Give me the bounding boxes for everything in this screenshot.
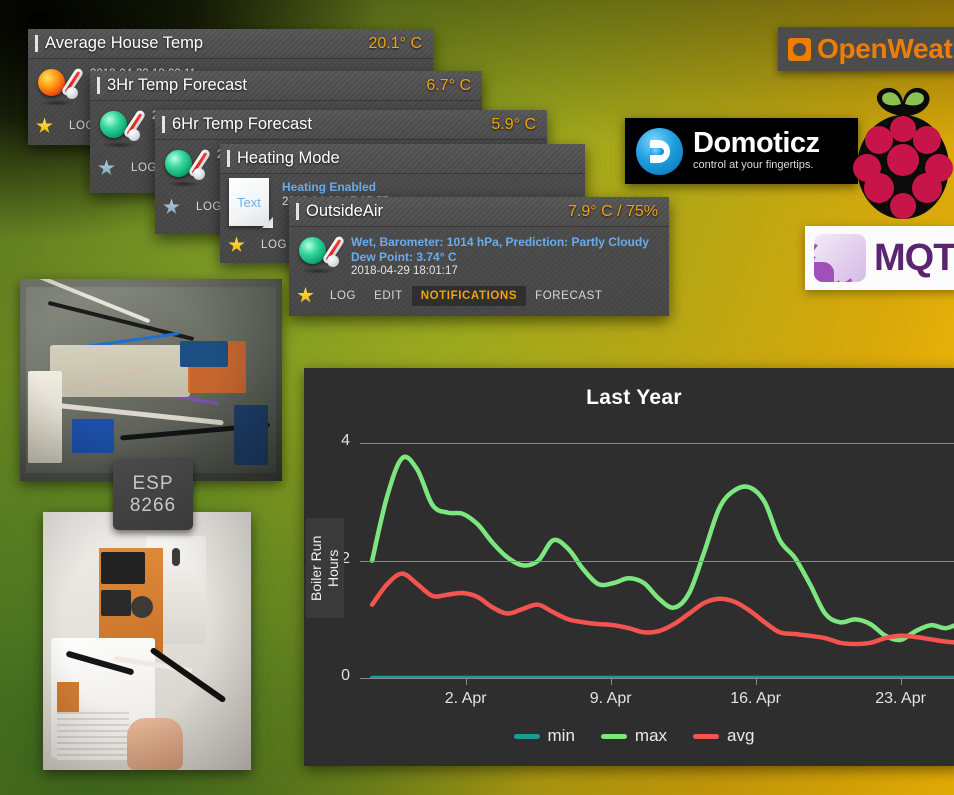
card-title: Average House Temp xyxy=(35,34,203,53)
favorite-star-icon[interactable] xyxy=(297,287,314,304)
chart-series-avg xyxy=(372,574,954,644)
domoticz-d-icon xyxy=(636,128,683,175)
chart-y-tick: 4 xyxy=(320,432,350,450)
domoticz-tagline: control at your fingertips. xyxy=(693,158,820,173)
favorite-star-icon[interactable] xyxy=(228,237,245,254)
legend-swatch-min xyxy=(514,734,540,739)
card-detail-block: Wet, Barometer: 1014 hPa, Prediction: Pa… xyxy=(351,233,649,279)
card-value: 20.1° C xyxy=(368,35,422,53)
chart-series-svg xyxy=(360,420,954,678)
note-icon-label: Text xyxy=(229,195,269,210)
chart-title: Last Year xyxy=(304,386,954,410)
photo-thermostat xyxy=(43,512,251,770)
chip-line2: 8266 xyxy=(130,495,176,517)
title-bar-accent xyxy=(162,116,165,133)
edit-button[interactable]: EDIT xyxy=(365,286,412,306)
legend-label-max: max xyxy=(635,726,667,746)
card-title: 6Hr Temp Forecast xyxy=(162,115,312,134)
title-bar-accent xyxy=(227,150,230,167)
screenshot-stage: ESP 8266 OpenWeath Domoticz control at y… xyxy=(0,0,954,795)
chip-line1: ESP xyxy=(132,473,173,495)
card-title: OutsideAir xyxy=(296,202,383,221)
chart-legend: minmaxavg xyxy=(304,726,954,746)
title-bar-accent xyxy=(97,77,100,94)
notifications-button[interactable]: NOTIFICATIONS xyxy=(412,286,526,306)
legend-label-avg: avg xyxy=(727,726,754,746)
openweather-label: OpenWeath xyxy=(817,33,954,65)
card-title-text: Average House Temp xyxy=(45,34,203,53)
chart-y-tick: 0 xyxy=(320,667,350,685)
favorite-star-icon[interactable] xyxy=(163,199,180,216)
legend-label-min: min xyxy=(548,726,575,746)
legend-swatch-max xyxy=(601,734,627,739)
mqtt-label: MQT xyxy=(874,238,954,278)
card-title-text: Heating Mode xyxy=(237,149,340,168)
mqtt-logo: MQT xyxy=(805,226,954,290)
thermometer-cold-icon xyxy=(164,146,208,190)
card-title-text: 3Hr Temp Forecast xyxy=(107,76,247,95)
openweather-logo: OpenWeath xyxy=(778,27,954,71)
chart-y-axis-label: Boiler Run Hours xyxy=(306,518,344,618)
title-bar-accent xyxy=(35,35,38,52)
openweather-gear-icon xyxy=(788,38,811,61)
legend-item-max[interactable]: max xyxy=(601,726,667,746)
favorite-star-icon[interactable] xyxy=(36,118,53,135)
chart-y-axis-label-text: Boiler Run Hours xyxy=(308,518,342,618)
card-header: 6Hr Temp Forecast 5.9° C xyxy=(155,110,547,140)
domoticz-label: Domoticz xyxy=(693,129,820,158)
card-header: 3Hr Temp Forecast 6.7° C xyxy=(90,71,482,101)
card-title-text: 6Hr Temp Forecast xyxy=(172,115,312,134)
legend-item-min[interactable]: min xyxy=(514,726,575,746)
thermometer-hot-icon xyxy=(37,65,81,109)
card-header: Average House Temp 20.1° C xyxy=(28,29,433,59)
card-status: Heating Enabled xyxy=(282,180,389,195)
card-footer: LOG EDIT NOTIFICATIONS FORECAST xyxy=(289,283,669,312)
chart-x-tick: 9. Apr xyxy=(590,690,632,708)
chart-x-tick: 23. Apr xyxy=(875,690,926,708)
chart-x-tick-mark xyxy=(901,678,902,685)
card-body: Wet, Barometer: 1014 hPa, Prediction: Pa… xyxy=(289,227,669,283)
card-header: OutsideAir 7.9° C / 75% xyxy=(289,197,669,227)
text-note-icon: Text xyxy=(229,178,273,228)
boiler-run-hours-chart: Last Year 0242. Apr9. Apr16. Apr23. Apr … xyxy=(304,368,954,766)
raspberry-pi-icon xyxy=(843,82,954,222)
card-title-text: OutsideAir xyxy=(306,202,383,221)
card-title: 3Hr Temp Forecast xyxy=(97,76,247,95)
device-card-outside-air[interactable]: OutsideAir 7.9° C / 75% Wet, Barometer: … xyxy=(289,197,669,316)
chart-series-max xyxy=(372,457,954,640)
card-dewpoint: Dew Point: 3.74° C xyxy=(351,250,649,265)
mqtt-waves-icon xyxy=(814,234,866,282)
legend-swatch-avg xyxy=(693,734,719,739)
chart-plot-area xyxy=(360,420,954,678)
card-value: 5.9° C xyxy=(491,116,536,134)
log-button[interactable]: LOG xyxy=(321,286,365,306)
chart-x-tick: 16. Apr xyxy=(730,690,781,708)
chart-x-tick-mark xyxy=(611,678,612,685)
card-conditions: Wet, Barometer: 1014 hPa, Prediction: Pa… xyxy=(351,235,649,250)
chart-x-tick-mark xyxy=(756,678,757,685)
esp8266-chip-badge: ESP 8266 xyxy=(113,460,193,530)
favorite-star-icon[interactable] xyxy=(98,160,115,177)
card-value: 7.9° C / 75% xyxy=(568,203,658,221)
chart-gridline xyxy=(360,443,954,444)
forecast-button[interactable]: FORECAST xyxy=(526,286,611,306)
card-title: Heating Mode xyxy=(227,149,340,168)
title-bar-accent xyxy=(296,203,299,220)
card-timestamp: 2018-04-29 18:01:17 xyxy=(351,264,649,279)
chart-x-tick-mark xyxy=(466,678,467,685)
photo-enclosure xyxy=(20,279,282,481)
chart-gridline xyxy=(360,561,954,562)
domoticz-logo: Domoticz control at your fingertips. xyxy=(625,118,858,184)
chart-x-tick: 2. Apr xyxy=(445,690,487,708)
thermometer-cold-icon xyxy=(99,107,143,151)
thermometer-cold-icon xyxy=(298,233,342,277)
legend-item-avg[interactable]: avg xyxy=(693,726,754,746)
card-header: Heating Mode xyxy=(220,144,585,174)
card-value: 6.7° C xyxy=(426,77,471,95)
chart-gridline xyxy=(360,678,954,679)
